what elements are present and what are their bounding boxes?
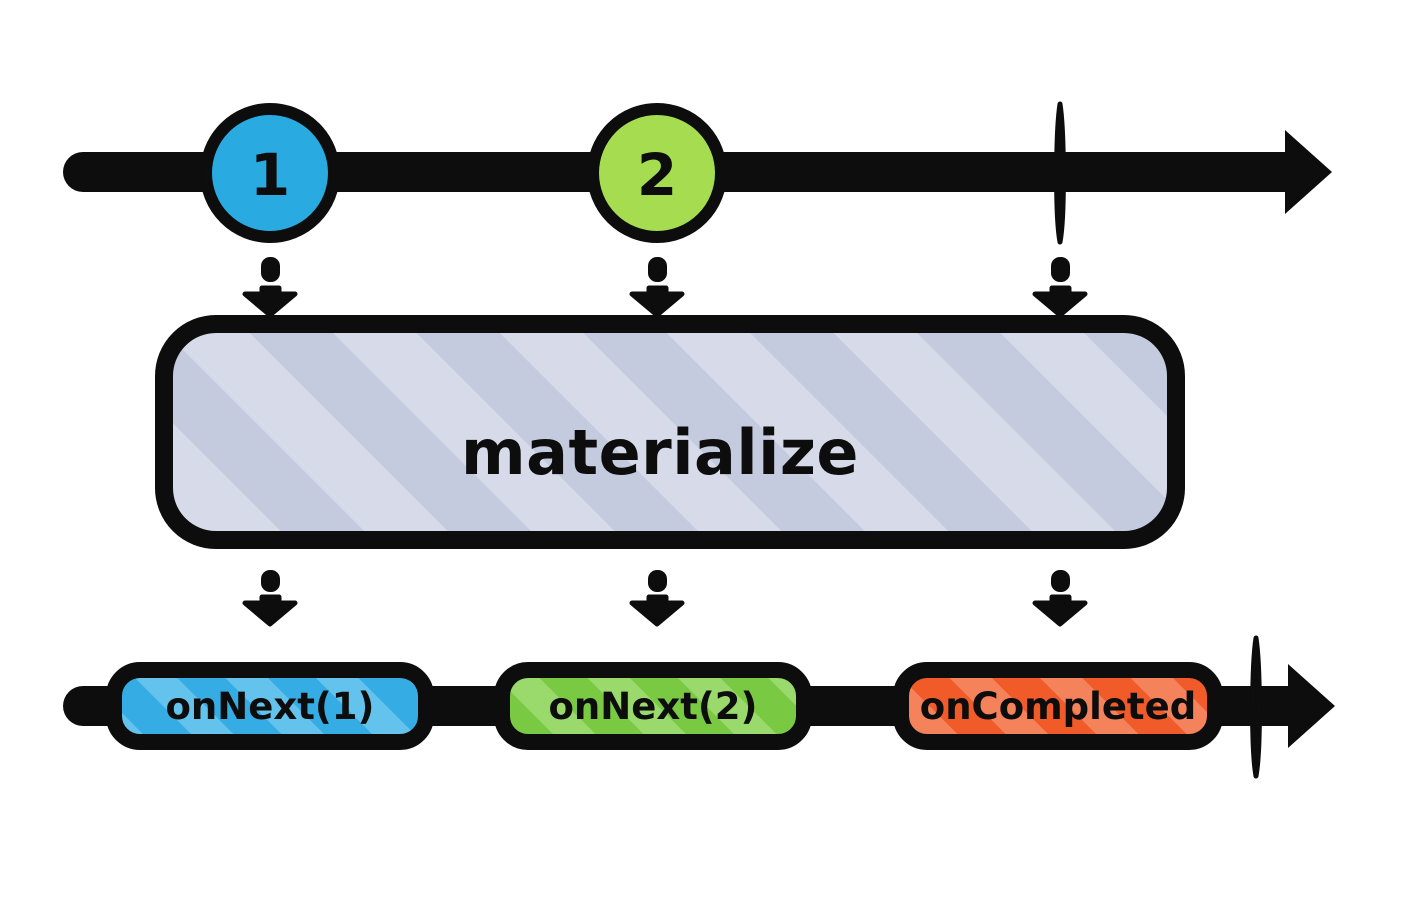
source-timeline: 1 2 bbox=[63, 104, 1332, 242]
arrowhead-down-icon bbox=[1035, 597, 1085, 624]
source-complete-bar bbox=[1057, 104, 1064, 242]
marble-diagram-canvas: 1 2 materiali bbox=[0, 0, 1401, 901]
dash-segment bbox=[261, 257, 280, 282]
pill-label: onNext(1) bbox=[166, 685, 375, 728]
operator-box[interactable]: materialize bbox=[164, 324, 1176, 540]
operator-label: materialize bbox=[461, 416, 859, 489]
output-connector-arrow-3 bbox=[1035, 570, 1085, 624]
arrowhead-down-icon bbox=[245, 597, 295, 624]
pill-label: onCompleted bbox=[920, 685, 1196, 728]
dash-segment bbox=[1051, 257, 1070, 282]
arrowhead-down-icon bbox=[1035, 288, 1085, 315]
arrowhead-down-icon bbox=[632, 597, 682, 624]
input-connector-arrow-3 bbox=[1035, 257, 1085, 315]
notification-pill-oncompleted[interactable]: onCompleted bbox=[901, 670, 1215, 742]
source-marble-1[interactable]: 1 bbox=[206, 109, 334, 237]
marble-value-label: 2 bbox=[637, 141, 677, 209]
pill-label: onNext(2) bbox=[549, 685, 758, 728]
dash-segment bbox=[648, 570, 667, 592]
input-connector-arrows bbox=[245, 257, 1085, 315]
dash-segment bbox=[1051, 570, 1070, 592]
arrowhead-down-icon bbox=[632, 288, 682, 315]
input-connector-arrow-1 bbox=[245, 257, 295, 315]
output-connector-arrow-1 bbox=[245, 570, 295, 624]
arrowhead-down-icon bbox=[245, 288, 295, 315]
output-connector-arrow-2 bbox=[632, 570, 682, 624]
marble-diagram-svg: 1 2 materiali bbox=[0, 0, 1401, 901]
dash-segment bbox=[648, 257, 667, 282]
output-timeline: onNext(1) onNext(2) onCompleted bbox=[63, 638, 1335, 776]
output-connector-arrows bbox=[245, 570, 1085, 624]
output-complete-bar bbox=[1253, 638, 1260, 776]
source-marble-2[interactable]: 2 bbox=[593, 109, 721, 237]
input-connector-arrow-2 bbox=[632, 257, 682, 315]
notification-pill-onnext-1[interactable]: onNext(1) bbox=[114, 670, 426, 742]
marble-value-label: 1 bbox=[250, 141, 290, 209]
dash-segment bbox=[261, 570, 280, 592]
notification-pill-onnext-2[interactable]: onNext(2) bbox=[502, 670, 804, 742]
